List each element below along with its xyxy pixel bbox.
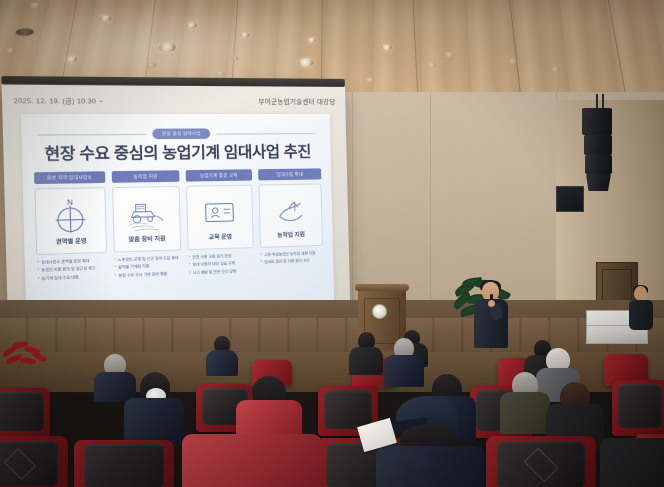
bullet-item: •현장 수요 조사 기반 장비 확충 (115, 271, 181, 279)
bullet-dot: • (114, 258, 115, 262)
seat (74, 440, 174, 487)
seat (612, 380, 664, 436)
bullet-item: •임대료 경감 및 이용 편의 개선 (261, 258, 323, 265)
bullet-dot: • (189, 270, 190, 274)
line-array-speaker (582, 108, 616, 194)
card-bullets: •고령·여성농업인 농작업 대행 지원 •임대료 경감 및 이용 편의 개선 (260, 251, 324, 268)
audience-torso (206, 350, 238, 376)
slide-card: 임대사업 확대 농작업 지원 •고령· (258, 168, 325, 308)
audience-torso (600, 438, 664, 487)
card-badge: 읍면 지역 임대사업소 (34, 171, 105, 184)
bullet-dot: • (189, 256, 190, 260)
bullet-item: •임대 이용자 대상 실습 교육 (189, 261, 253, 269)
audience-torso (376, 446, 486, 487)
bullet-dot: • (261, 253, 262, 257)
ceiling-downlight (381, 45, 392, 50)
bullet-dot: • (38, 276, 40, 280)
bullet-item: •사고 예방 및 안전 관리 강화 (189, 268, 253, 276)
hand-care-icon (270, 192, 312, 229)
bullet-item: •고령·여성농업인 농작업 대행 지원 (261, 251, 323, 258)
bullet-text: 밭작물 기계화 지원 (118, 264, 149, 271)
ceiling-downlight (298, 58, 314, 66)
card-badge: 농작업 지원 (111, 170, 179, 183)
ceiling-downlight (426, 63, 437, 68)
bullet-text: 현장 수요 조사 기반 장비 확충 (118, 271, 167, 278)
bullet-dot: • (261, 260, 262, 264)
speaker-module (585, 155, 612, 174)
eyebrow-rule-left (38, 133, 146, 135)
staff-body (629, 300, 653, 330)
bullet-text: 안전 사용 교육 정기 운영 (192, 254, 231, 261)
audience-torso (349, 347, 383, 375)
bullet-text: 고령·여성농업인 농작업 대행 지원 (264, 251, 315, 258)
audience-seating-area (0, 330, 664, 487)
seat-back-pad (618, 384, 663, 428)
presentation-slide: 현장 중심 임대사업 현장 수요 중심의 농업기계 임대사업 추진 읍면 지역 … (21, 114, 335, 330)
eyebrow-pill-label: 현장 중심 임대사업 (152, 128, 210, 139)
ceiling-downlight (507, 58, 517, 63)
slide-card-row: 읍면 지역 임대사업소 N 권역별 운영 (34, 168, 324, 318)
bullet-text: 사고 예방 및 안전 관리 강화 (193, 269, 237, 276)
eyebrow-rule-right (217, 133, 317, 135)
slide-card: 농업기계 활용 교육 교육 운영 (186, 169, 255, 311)
card-box: 교육 운영 (186, 185, 253, 251)
card-box: 농작업 지원 (258, 184, 323, 248)
id-card-icon (198, 193, 241, 231)
audience-torso (124, 398, 184, 446)
bullet-dot: • (37, 261, 39, 265)
card-label: 교육 운영 (209, 233, 232, 242)
card-badge: 농업기계 활용 교육 (186, 169, 252, 182)
bullet-text: 농업인 이용 편의 및 접근성 제고 (41, 266, 95, 274)
wall-monitor (556, 186, 584, 212)
bullet-item: •임대사업소 권역별 운영 확대 (37, 258, 105, 266)
seat-back-pad (84, 444, 164, 487)
staff-head (634, 286, 647, 301)
bullet-text: 노후장비 교체 및 신규 장비 도입 확대 (118, 256, 179, 264)
seated-staff-member (628, 286, 654, 330)
bullet-text: 농기계 임대 수요 대응 (42, 275, 79, 282)
bullet-dot: • (115, 273, 116, 277)
bullet-dot: • (38, 268, 40, 272)
card-bullets: •안전 사용 교육 정기 운영 •임대 이용자 대상 실습 교육 •사고 예방 … (188, 253, 254, 278)
card-bullets: •임대사업소 권역별 운영 확대 •농업인 이용 편의 및 접근성 제고 •농기… (36, 258, 107, 284)
speaker-module (582, 108, 612, 135)
bullet-dot: • (115, 266, 116, 270)
speaker-module (584, 135, 612, 155)
seat-back-pad (0, 392, 44, 431)
podium-top (355, 284, 409, 291)
seat (0, 436, 68, 487)
ceiling-downlight (444, 52, 454, 57)
slide-card: 농작업 지원 (111, 170, 183, 315)
bullet-text: 임대 이용자 대상 실습 교육 (192, 261, 235, 268)
card-bullets: •노후장비 교체 및 신규 장비 도입 확대 •밭작물 기계화 지원 •현장 수… (113, 256, 182, 281)
bullet-item: •안전 사용 교육 정기 운영 (189, 253, 253, 261)
audience-torso (384, 355, 424, 387)
slide-card: 읍면 지역 임대사업소 N 권역별 운영 (34, 171, 108, 318)
bullet-item: •농기계 임대 수요 대응 (38, 274, 106, 282)
screen-top-rail (1, 76, 345, 87)
bullet-dot: • (189, 263, 190, 267)
podium-emblem-icon (372, 304, 387, 319)
tractor-field-icon (124, 195, 168, 234)
card-label: 맞춤 장비 지원 (128, 234, 165, 243)
card-label: 권역별 운영 (56, 237, 87, 246)
presentation-venue: 부여군농업기술센터 대강당 (258, 96, 335, 106)
card-badge: 임대사업 확대 (258, 168, 322, 180)
audience-torso (94, 372, 136, 402)
svg-text:N: N (67, 198, 73, 207)
slide-title: 현장 수요 중심의 농업기계 임대사업 추진 (22, 140, 331, 165)
bullet-text: 임대료 경감 및 이용 편의 개선 (264, 259, 310, 266)
seat (486, 436, 596, 487)
bullet-item: •노후장비 교체 및 신규 장비 도입 확대 (114, 256, 180, 264)
card-label: 농작업 지원 (277, 230, 305, 239)
projection-header: 2025. 12. 19. (금) 10:30 ~ 부여군농업기술센터 대강당 (13, 95, 335, 106)
ceiling-downlight (4, 48, 16, 53)
presenter-hand (488, 300, 495, 307)
audience-torso (182, 434, 322, 487)
ceiling-downlight (307, 38, 316, 43)
ceiling-downlight (365, 78, 374, 82)
slide-eyebrow: 현장 중심 임대사업 (21, 128, 330, 140)
presentation-datetime: 2025. 12. 19. (금) 10:30 ~ (13, 95, 103, 106)
bullet-text: 임대사업소 권역별 운영 확대 (41, 259, 89, 266)
compass-icon: N (47, 196, 93, 236)
bullet-item: •밭작물 기계화 지원 (115, 263, 181, 271)
seat (0, 388, 50, 438)
audience-torso (500, 392, 550, 434)
ceiling-downlight (550, 67, 559, 72)
auditorium-photo: 2025. 12. 19. (금) 10:30 ~ 부여군농업기술센터 대강당 … (0, 0, 664, 487)
bullet-item: •농업인 이용 편의 및 접근성 제고 (38, 266, 106, 274)
seat-back-pad (324, 390, 372, 429)
card-box: N 권역별 운영 (34, 187, 106, 255)
card-box: 맞춤 장비 지원 (112, 186, 182, 253)
speaker-module (586, 174, 611, 191)
